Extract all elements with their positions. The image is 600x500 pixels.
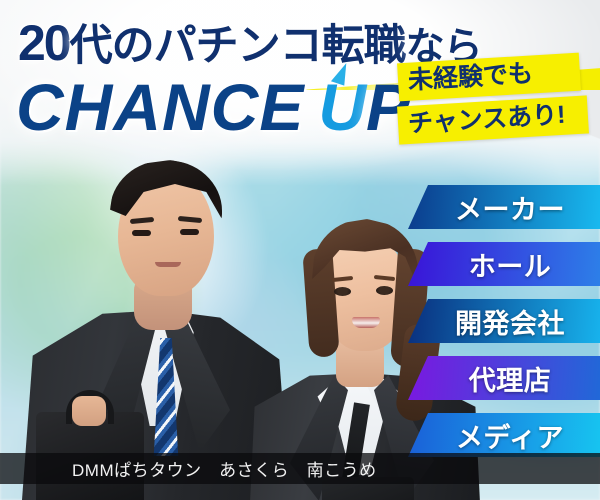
category-label: メディア [444,416,564,455]
chance-up-logo: CHANCE UP [16,74,410,140]
logo-word-chance: CHANCE [16,74,304,140]
male-hand [72,396,106,426]
experience-badge: 未経験でも チャンスあり! [398,58,588,139]
female-eye-right [376,286,393,295]
category-button-media[interactable]: メディア [408,413,600,457]
category-list: メーカー ホール 開発会社 代理店 メディア [408,185,600,470]
male-mouth [155,262,181,267]
category-label: 代理店 [457,359,552,398]
category-button-agency[interactable]: 代理店 [408,356,600,400]
caption-credits: DMMぱちタウン あさくら 南こうめ [0,456,377,481]
category-label: ホール [457,245,552,284]
category-button-hall[interactable]: ホール [408,242,600,286]
category-label: 開発会社 [443,302,565,341]
badge-line-1: 未経験でも [397,53,581,102]
pachinko-job-banner: 20代のパチンコ転職なら CHANCE UP 未経験でも チャンスあり! メーカ… [0,0,600,500]
headline-age-number: 20 [18,15,70,71]
male-eye-left [132,230,151,236]
female-mouth [352,317,380,328]
category-button-maker[interactable]: メーカー [408,185,600,229]
category-button-developer[interactable]: 開発会社 [408,299,600,343]
badge-line-2: チャンスあり! [397,95,589,144]
category-label: メーカー [443,188,565,227]
headline-main-text: 代のパチンコ転職 [70,22,406,70]
caption-bar: DMMぱちタウン あさくら 南こうめ [0,453,600,484]
female-eye-left [334,287,351,296]
male-eye-right [180,229,199,235]
